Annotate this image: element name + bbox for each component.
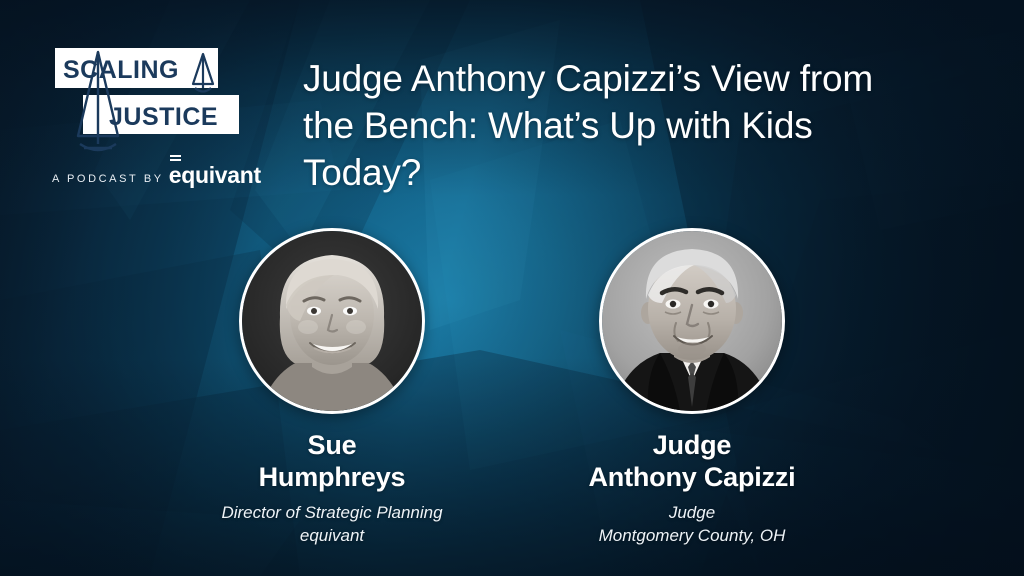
- podcast-episode-card: SCALING JUSTICE A PODCAST BY equivant Ju…: [0, 0, 1024, 576]
- avatar-anthony-capizzi: [599, 228, 785, 414]
- speaker-role-anthony-capizzi: Judge: [532, 502, 852, 525]
- speaker-name-sue-humphreys: Sue Humphreys: [172, 430, 492, 493]
- speaker-name-line1: Judge: [532, 430, 852, 462]
- logo-word-justice: JUSTICE: [109, 105, 218, 130]
- equivant-macron-upper-icon: [170, 155, 181, 157]
- episode-title: Judge Anthony Capizzi’s View from the Be…: [303, 56, 928, 197]
- equivant-wordmark: equivant: [169, 164, 261, 187]
- podcast-byline-prefix: A PODCAST BY: [52, 174, 164, 187]
- speaker-org-anthony-capizzi: Montgomery County, OH: [532, 525, 852, 548]
- speaker-role-sue-humphreys: Director of Strategic Planning: [172, 502, 492, 525]
- speaker-org-sue-humphreys: equivant: [172, 525, 492, 548]
- podcast-byline: A PODCAST BY equivant: [52, 164, 261, 187]
- equivant-macron-icon: [170, 159, 181, 161]
- speaker-name-line2: Humphreys: [172, 462, 492, 494]
- speaker-name-line1: Sue: [172, 430, 492, 462]
- speaker-card-anthony-capizzi: Judge Anthony Capizzi Judge Montgomery C…: [532, 228, 852, 548]
- speaker-name-anthony-capizzi: Judge Anthony Capizzi: [532, 430, 852, 493]
- speaker-card-sue-humphreys: Sue Humphreys Director of Strategic Plan…: [172, 228, 492, 548]
- avatar-sue-humphreys: [239, 228, 425, 414]
- speaker-name-line2: Anthony Capizzi: [532, 462, 852, 494]
- equivant-wordmark-text: equivant: [169, 162, 261, 188]
- logo-word-scaling: SCALING: [63, 58, 179, 83]
